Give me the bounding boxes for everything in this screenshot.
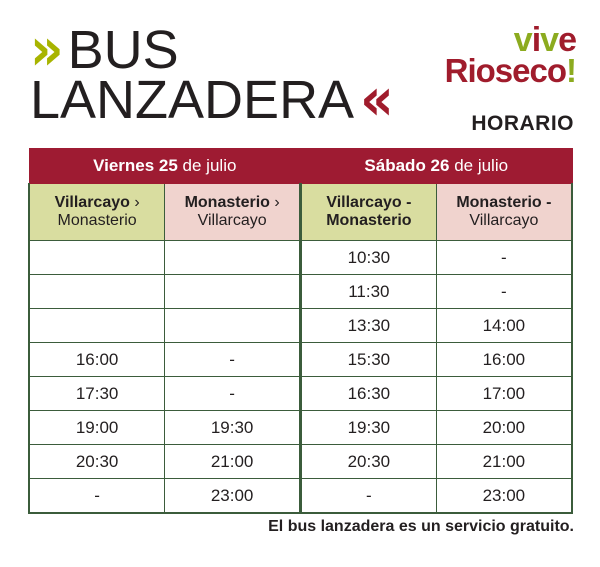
title-word-lanzadera: LANZADERA	[30, 73, 354, 127]
chevron-left-double-icon: «	[360, 70, 382, 130]
logo-rioseco-text: Rioseco!	[416, 54, 576, 87]
table-row: 16:00 - 15:30 16:00	[29, 343, 572, 377]
cell-r7-c0: -	[29, 479, 165, 514]
schedule-table: Viernes 25 de julio Sábado 26 de julio V…	[28, 148, 573, 514]
column-header-monasterio-villarcayo-saturday: Monasterio - Villarcayo	[436, 184, 572, 241]
day-header-friday-bold: Viernes 25	[93, 156, 178, 175]
logo-vive-rioseco: vive Rioseco!	[416, 24, 576, 87]
cell-r5-c1: 19:30	[165, 411, 301, 445]
schedule-label: HORARIO	[471, 112, 574, 136]
cell-r2-c1	[165, 309, 301, 343]
header: » BUS LANZADERA « vive Rioseco! HORARIO	[0, 0, 600, 148]
cell-r0-c0	[29, 241, 165, 275]
day-header-row: Viernes 25 de julio Sábado 26 de julio	[29, 149, 572, 184]
cell-r6-c0: 20:30	[29, 445, 165, 479]
cell-r5-c2: 19:30	[301, 411, 437, 445]
table-row: 13:30 14:00	[29, 309, 572, 343]
table-row: 11:30 -	[29, 275, 572, 309]
table-body: 10:30 - 11:30 - 13:30 14:00 16:00	[29, 241, 572, 514]
cell-r3-c0: 16:00	[29, 343, 165, 377]
logo-rioseco-word: Rioseco	[445, 52, 566, 89]
cell-r1-c3: -	[436, 275, 572, 309]
table-row: 10:30 -	[29, 241, 572, 275]
cell-r1-c0	[29, 275, 165, 309]
cell-r2-c2: 13:30	[301, 309, 437, 343]
cell-r2-c3: 14:00	[436, 309, 572, 343]
cell-r0-c2: 10:30	[301, 241, 437, 275]
cell-r4-c0: 17:30	[29, 377, 165, 411]
cell-r7-c2: -	[301, 479, 437, 514]
col1-line2: Villarcayo	[198, 212, 267, 229]
chevron-right-double-icon: »	[30, 20, 52, 80]
schedule-table-wrapper: Viernes 25 de julio Sábado 26 de julio V…	[28, 148, 573, 514]
col3-line2: Villarcayo	[469, 212, 538, 229]
cell-r2-c0	[29, 309, 165, 343]
col1-line1: Monasterio	[185, 194, 270, 211]
cell-r6-c3: 21:00	[436, 445, 572, 479]
day-header-saturday: Sábado 26 de julio	[301, 149, 573, 184]
cell-r0-c3: -	[436, 241, 572, 275]
table-row: 19:00 19:30 19:30 20:00	[29, 411, 572, 445]
day-header-friday-light: de julio	[178, 156, 237, 175]
column-header-monasterio-villarcayo-friday: Monasterio › Villarcayo	[165, 184, 301, 241]
cell-r3-c2: 15:30	[301, 343, 437, 377]
footnote-text: El bus lanzadera es un servicio gratuito…	[268, 518, 574, 536]
day-header-saturday-bold: Sábado 26	[364, 156, 449, 175]
column-header-villarcayo-monasterio-saturday: Villarcayo - Monasterio	[301, 184, 437, 241]
day-header-saturday-light: de julio	[449, 156, 508, 175]
table-row: - 23:00 - 23:00	[29, 479, 572, 514]
cell-r4-c1: -	[165, 377, 301, 411]
col2-line1: Villarcayo -	[326, 194, 411, 211]
cell-r4-c2: 16:30	[301, 377, 437, 411]
title-word-bus: BUS	[68, 23, 179, 77]
cell-r1-c2: 11:30	[301, 275, 437, 309]
cell-r1-c1	[165, 275, 301, 309]
cell-r3-c1: -	[165, 343, 301, 377]
col0-line1: Villarcayo	[55, 194, 130, 211]
cell-r3-c3: 16:00	[436, 343, 572, 377]
col1-arrow-icon: ›	[274, 194, 279, 211]
cell-r6-c2: 20:30	[301, 445, 437, 479]
page-title: » BUS LANZADERA «	[30, 22, 430, 126]
day-header-friday: Viernes 25 de julio	[29, 149, 301, 184]
col3-line1: Monasterio -	[456, 194, 551, 211]
route-header-row: Villarcayo › Monasterio Monasterio › Vil…	[29, 184, 572, 241]
cell-r6-c1: 21:00	[165, 445, 301, 479]
cell-r0-c1	[165, 241, 301, 275]
cell-r7-c3: 23:00	[436, 479, 572, 514]
col0-arrow-icon: ›	[134, 194, 139, 211]
table-header: Viernes 25 de julio Sábado 26 de julio V…	[29, 149, 572, 241]
poster-root: » BUS LANZADERA « vive Rioseco! HORARIO …	[0, 0, 600, 567]
title-line-2: LANZADERA «	[30, 74, 430, 126]
column-header-villarcayo-monasterio-friday: Villarcayo › Monasterio	[29, 184, 165, 241]
cell-r5-c0: 19:00	[29, 411, 165, 445]
col0-line2: Monasterio	[58, 212, 137, 229]
col2-line2: Monasterio	[326, 212, 411, 229]
table-row: 17:30 - 16:30 17:00	[29, 377, 572, 411]
table-row: 20:30 21:00 20:30 21:00	[29, 445, 572, 479]
cell-r5-c3: 20:00	[436, 411, 572, 445]
logo-exclamation-icon: !	[566, 52, 576, 89]
cell-r7-c1: 23:00	[165, 479, 301, 514]
cell-r4-c3: 17:00	[436, 377, 572, 411]
